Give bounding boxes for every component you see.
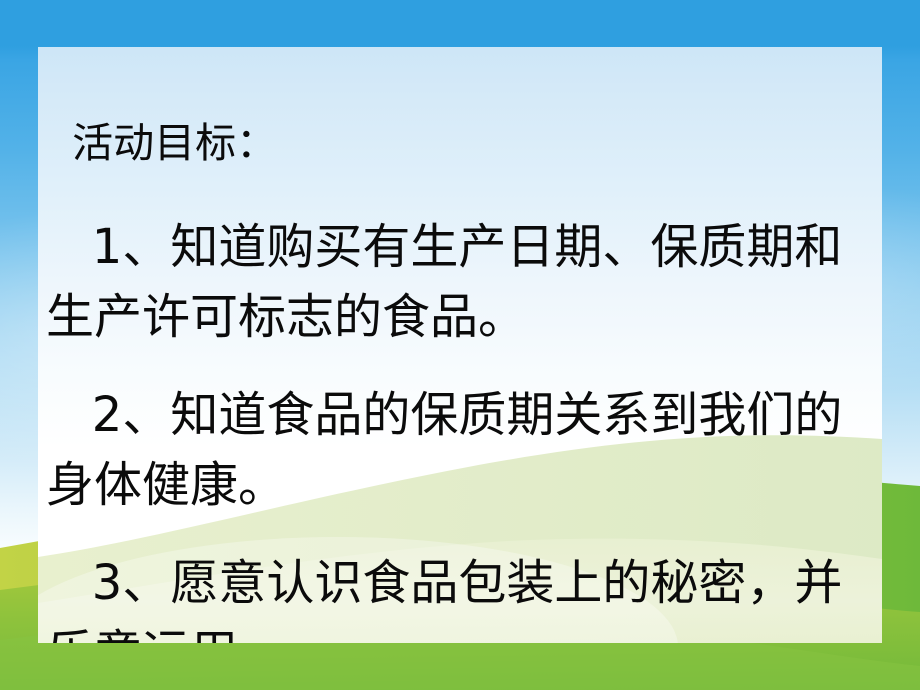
goal-2-line-1: 2、知道食品的保质期关系到我们的	[46, 375, 882, 445]
goals-text-block: 活动目标： 1、知道购买有生产日期、保质期和 生产许可标志的食品。 2、知道食品…	[38, 47, 882, 643]
content-panel: 活动目标： 1、知道购买有生产日期、保质期和 生产许可标志的食品。 2、知道食品…	[38, 47, 882, 643]
goal-3-line-1: 3、愿意认识食品包装上的秘密，并	[46, 543, 882, 613]
goal-3-line-2: 乐意运用。	[46, 613, 882, 643]
page-title: 活动目标：	[46, 109, 882, 169]
slide-root: 活动目标： 1、知道购买有生产日期、保质期和 生产许可标志的食品。 2、知道食品…	[0, 0, 920, 690]
goal-1-line-1: 1、知道购买有生产日期、保质期和	[46, 207, 882, 277]
goal-2-line-2: 身体健康。	[46, 445, 882, 515]
goal-1-line-2: 生产许可标志的食品。	[46, 277, 882, 347]
